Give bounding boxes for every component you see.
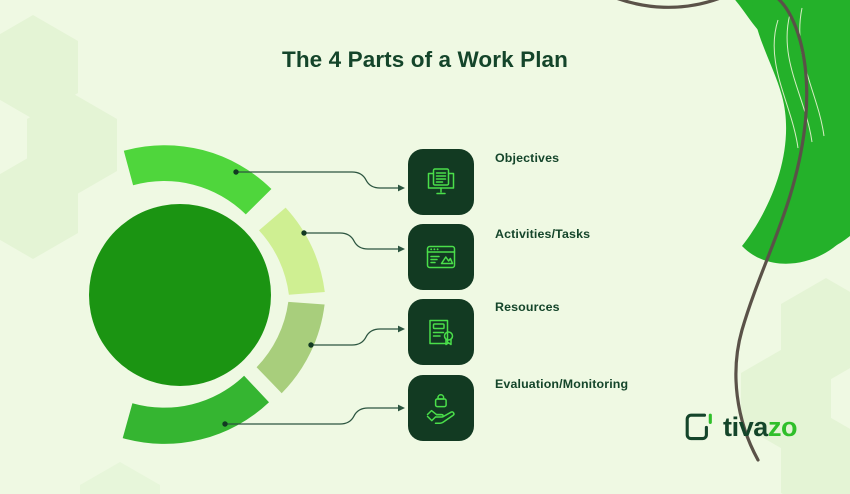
logo-word-accent: zo xyxy=(768,412,797,442)
item-label-evaluation: Evaluation/Monitoring xyxy=(495,377,628,391)
logo-word-primary: tiva xyxy=(723,412,768,442)
icon-box-objectives[interactable] xyxy=(408,149,474,215)
tivazo-logo[interactable]: tivazo xyxy=(684,412,797,443)
tivazo-bracket-mark-icon xyxy=(684,412,714,443)
content-layer: The 4 Parts of a Work Plan xyxy=(0,0,850,494)
presentation-board-icon xyxy=(423,164,459,200)
icon-box-evaluation[interactable] xyxy=(408,375,474,441)
item-label-activities: Activities/Tasks xyxy=(495,227,590,241)
tivazo-wordmark: tivazo xyxy=(723,414,797,441)
browser-window-image-icon xyxy=(423,239,459,275)
infographic-canvas: The 4 Parts of a Work Plan xyxy=(0,0,850,494)
icon-box-activities[interactable] xyxy=(408,224,474,290)
hand-holding-shield-icon xyxy=(423,390,459,426)
page-title: The 4 Parts of a Work Plan xyxy=(0,47,850,73)
certificate-document-icon xyxy=(423,314,459,350)
item-label-resources: Resources xyxy=(495,300,560,314)
item-label-objectives: Objectives xyxy=(495,151,559,165)
icon-box-resources[interactable] xyxy=(408,299,474,365)
